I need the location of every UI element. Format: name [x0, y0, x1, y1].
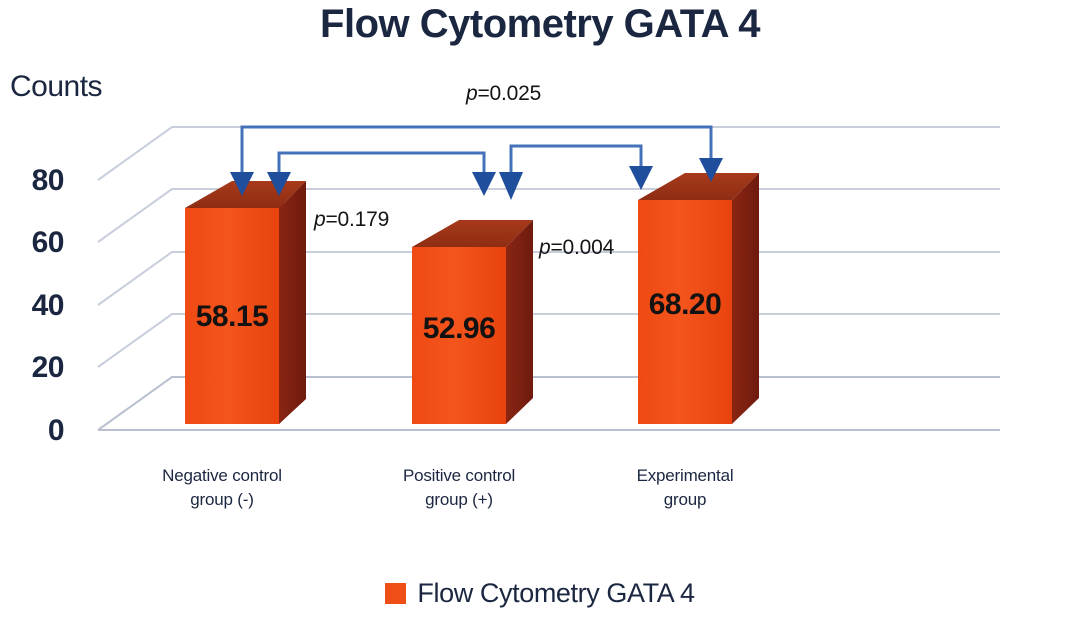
significance-bracket-1-vs-2 — [279, 153, 484, 172]
category-label-positive-control: Positive control group (+) — [359, 464, 559, 512]
category-label-experimental-line2: group — [585, 488, 785, 512]
chart-canvas: Flow Cytometry GATA 4 Counts 80 60 40 20… — [0, 0, 1080, 626]
significance-arrow-1-vs-2-right — [472, 172, 496, 196]
category-label-positive-control-line1: Positive control — [359, 464, 559, 488]
bar-value-negative-control: 58.15 — [185, 300, 279, 334]
significance-arrow-2-vs-3-left — [499, 172, 523, 200]
p-italic-1-vs-3: p — [466, 82, 477, 105]
category-label-negative-control-line2: group (-) — [122, 488, 322, 512]
category-label-negative-control: Negative control group (-) — [122, 464, 322, 512]
p-value-1-vs-3: =0.025 — [477, 82, 541, 105]
bar-value-experimental: 68.20 — [638, 288, 732, 322]
category-label-experimental-line1: Experimental — [585, 464, 785, 488]
bar-value-positive-control: 52.96 — [412, 312, 506, 346]
category-label-negative-control-line1: Negative control — [122, 464, 322, 488]
p-value-label-1-vs-2: p=0.179 — [314, 208, 389, 232]
category-label-experimental: Experimental group — [585, 464, 785, 512]
p-italic-1-vs-2: p — [314, 208, 325, 231]
p-italic-2-vs-3: p — [539, 236, 550, 259]
p-value-1-vs-2: =0.179 — [325, 208, 389, 231]
legend-swatch-icon — [385, 583, 406, 604]
legend-label: Flow Cytometry GATA 4 — [417, 578, 694, 609]
category-label-positive-control-line2: group (+) — [359, 488, 559, 512]
chart-legend[interactable]: Flow Cytometry GATA 4 — [0, 578, 1080, 609]
p-value-2-vs-3: =0.004 — [550, 236, 614, 259]
significance-arrow-2-vs-3-right — [629, 166, 653, 190]
p-value-label-1-vs-3: p=0.025 — [466, 82, 541, 106]
p-value-label-2-vs-3: p=0.004 — [539, 236, 614, 260]
significance-bracket-2-vs-3 — [511, 146, 641, 172]
